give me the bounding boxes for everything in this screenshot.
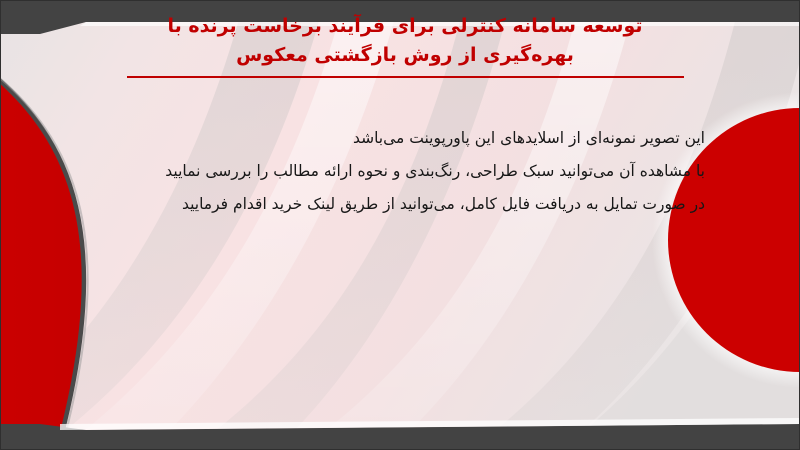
body-line-3: در صورت تمایل به دریافت فایل کامل، می‌تو… xyxy=(60,188,705,221)
slide-title: توسعه سامانه کنترلی برای فرآیند برخاست پ… xyxy=(100,12,710,78)
body-line-2: با مشاهده آن می‌توانید سبک طراحی، رنگ‌بن… xyxy=(60,155,705,188)
slide-body: این تصویر نمونه‌ای از اسلایدهای این پاور… xyxy=(60,122,705,221)
slide-title-line-1: توسعه سامانه کنترلی برای فرآیند برخاست پ… xyxy=(100,12,710,41)
slide-title-line-2: بهره‌گیری از روش بازگشتی معکوس xyxy=(100,41,710,70)
presentation-slide: توسعه سامانه کنترلی برای فرآیند برخاست پ… xyxy=(0,0,800,450)
body-line-1: این تصویر نمونه‌ای از اسلایدهای این پاور… xyxy=(60,122,705,155)
title-underline-rule xyxy=(127,76,684,78)
